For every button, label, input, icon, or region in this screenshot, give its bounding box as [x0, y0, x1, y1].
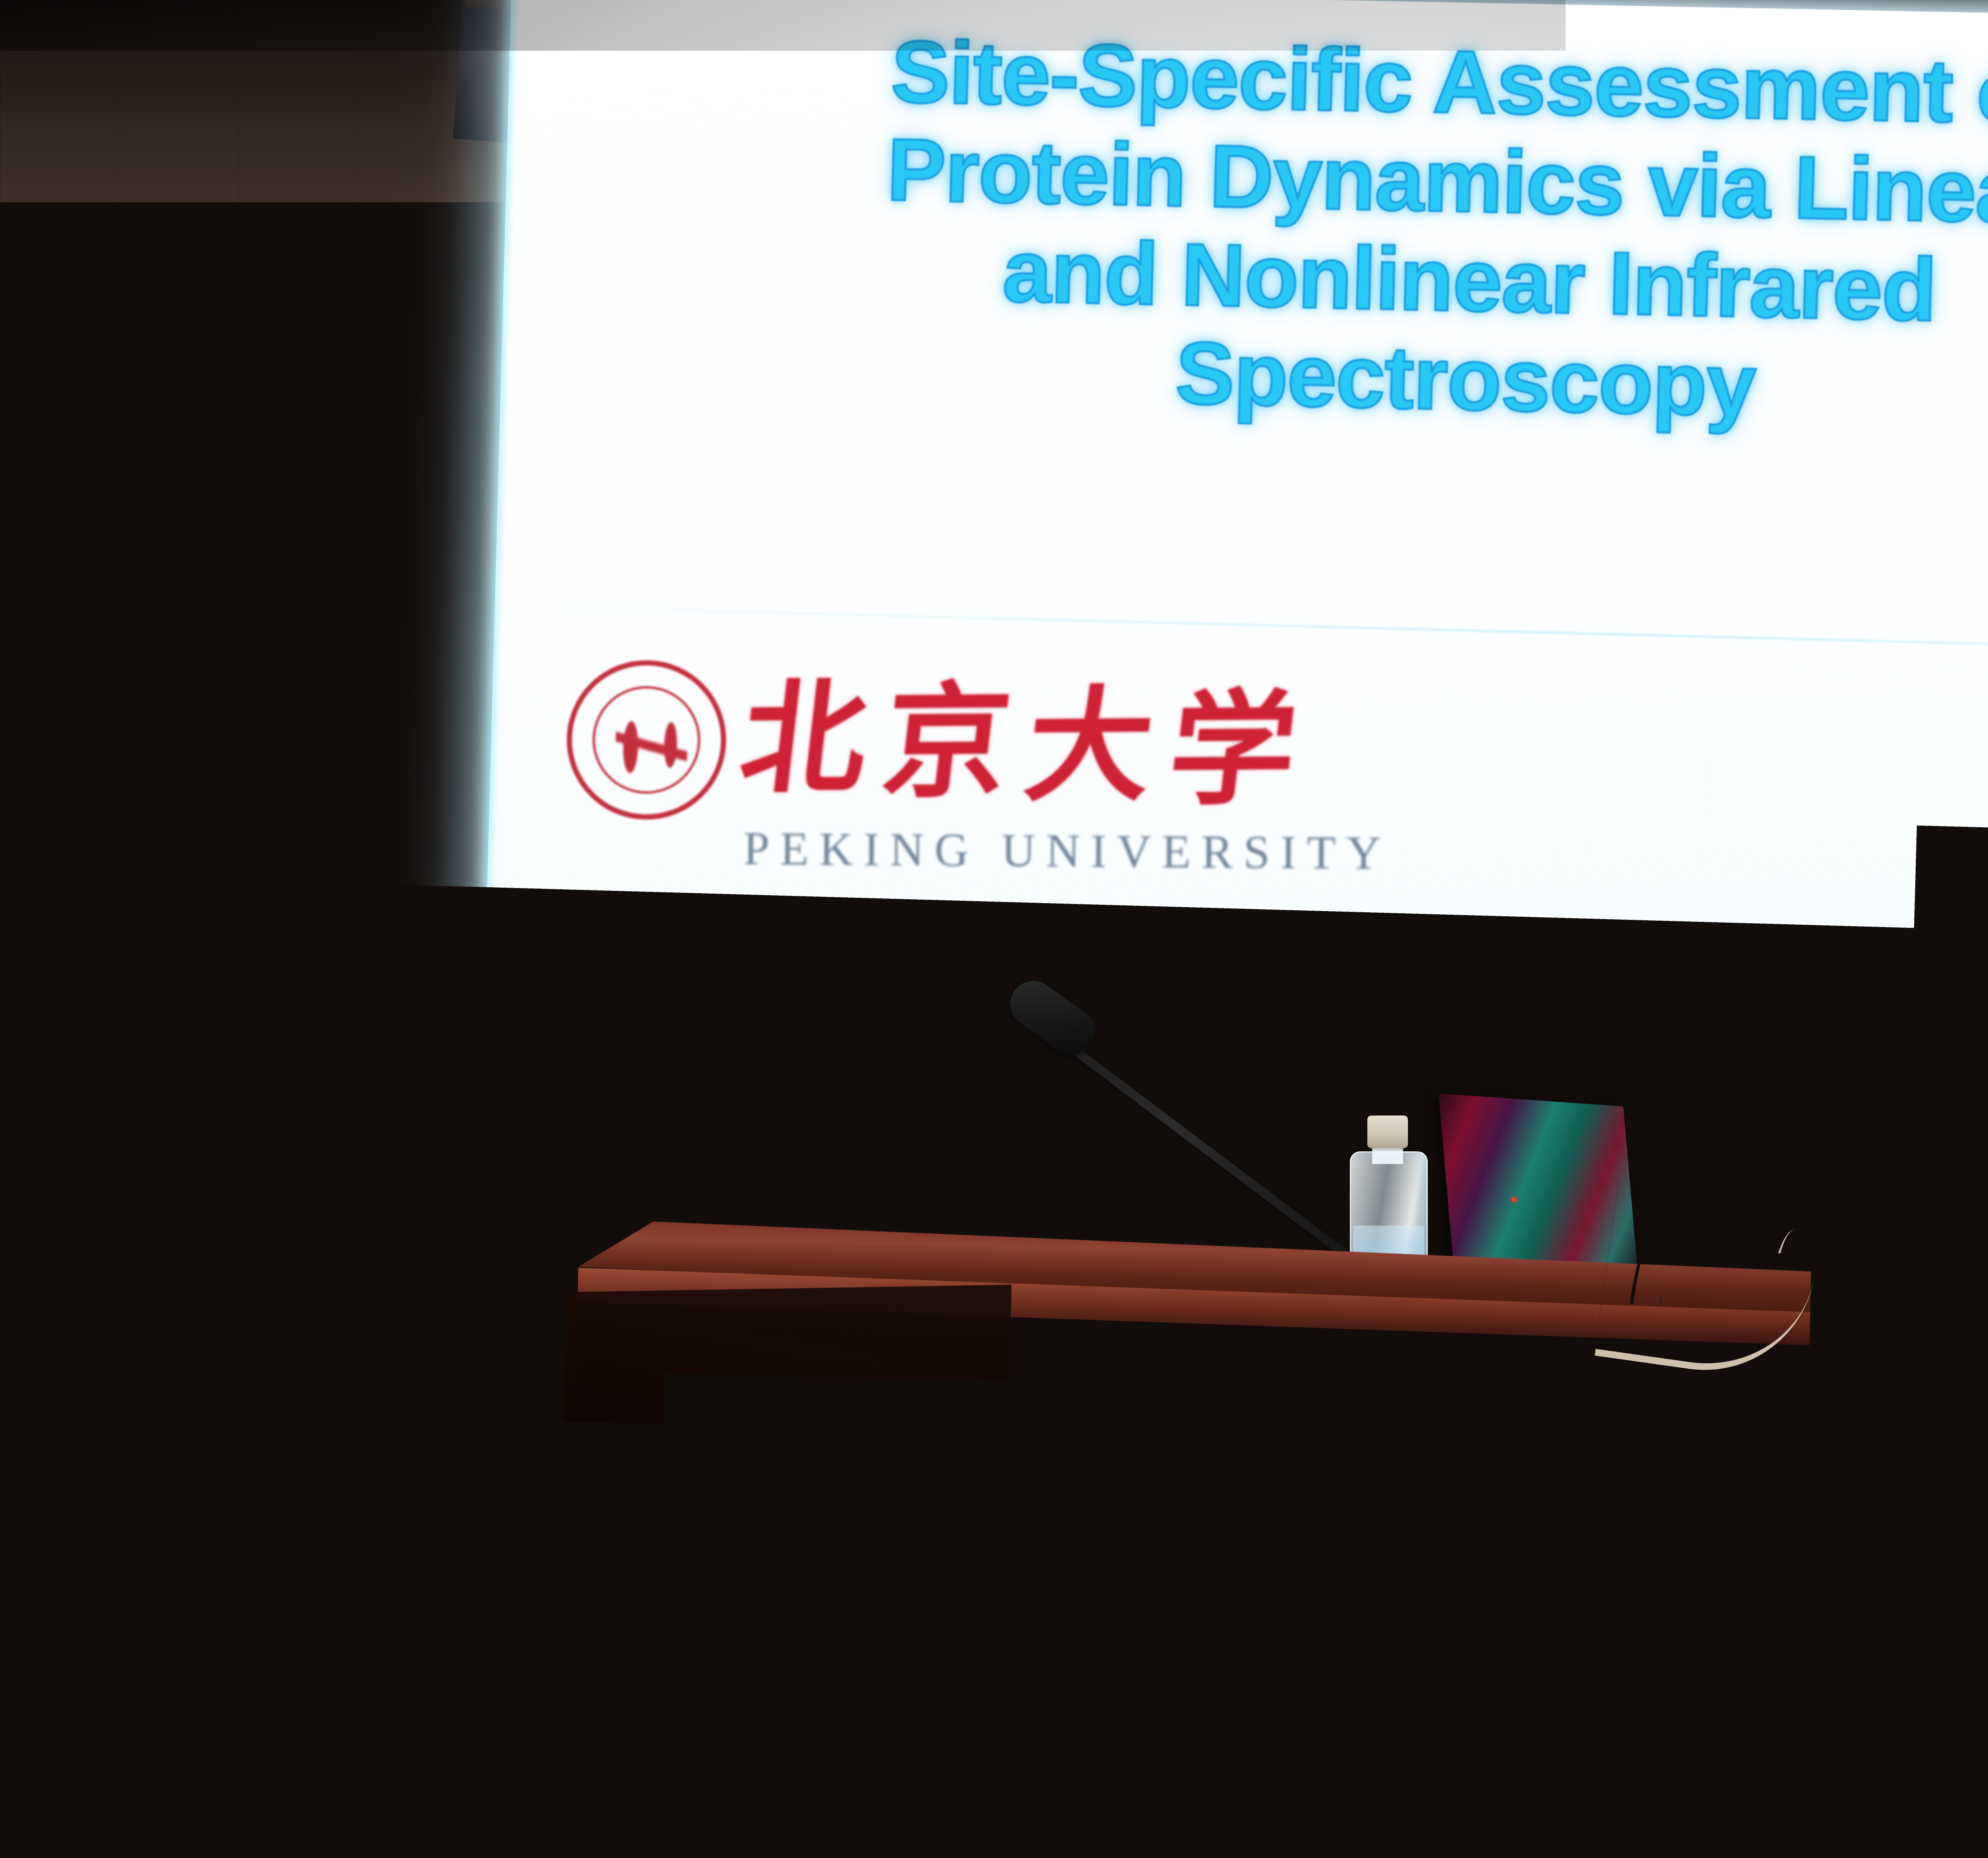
presentation-photograph: Site-Specific Assessment of Protein Dyna… — [0, 0, 1988, 1858]
lectern-gold-emblem-icon — [1180, 1539, 1352, 1797]
ear — [787, 865, 847, 952]
black-cable-drop — [1654, 1265, 1710, 1853]
shirt-button-2 — [893, 1308, 910, 1326]
presenter-affiliation: 北京大学化学与分子工程学院 — [1882, 1129, 1988, 1229]
laptop-indicator-light — [1511, 1197, 1516, 1202]
nose — [924, 847, 976, 923]
bottle-cap — [1367, 1116, 1408, 1148]
trousers — [537, 1666, 839, 1858]
shirt-button-3 — [894, 1428, 911, 1445]
lips — [911, 945, 966, 971]
presenter-figure — [513, 648, 1117, 1858]
slide-title: Site-Specific Assessment of Protein Dyna… — [679, 19, 1988, 446]
